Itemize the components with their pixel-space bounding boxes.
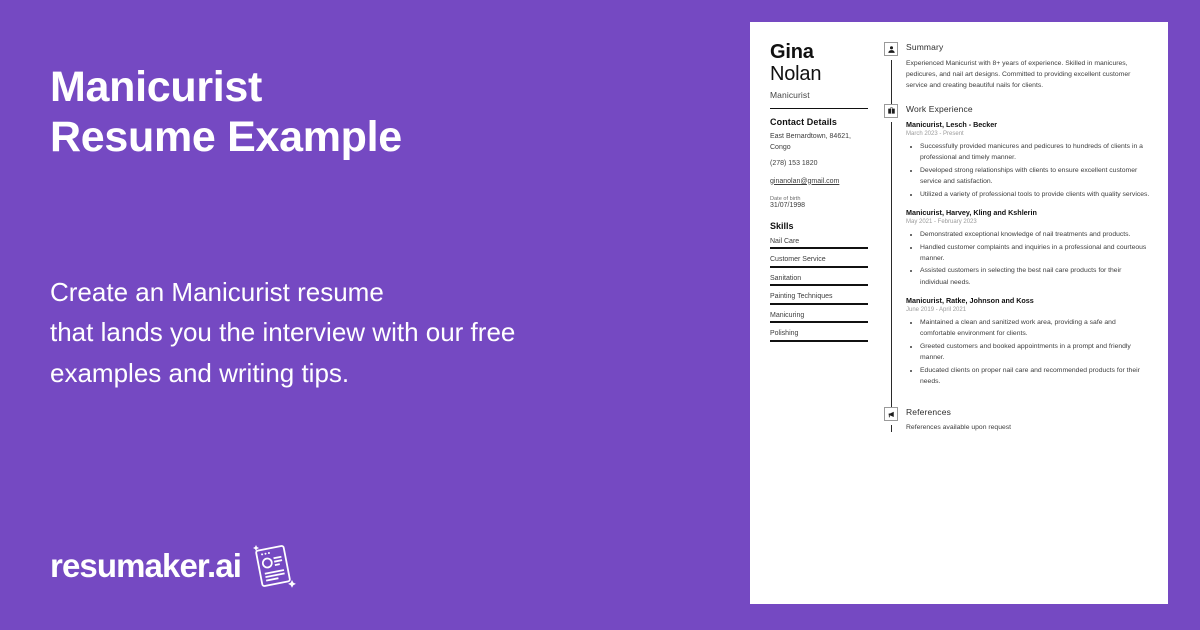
skill-label: Manicuring bbox=[770, 312, 868, 319]
job-bullet: Assisted customers in selecting the best… bbox=[920, 265, 1150, 287]
section-body: Work Experience Manicurist, Lesch - Beck… bbox=[902, 104, 1150, 408]
section-gutter bbox=[880, 104, 902, 408]
job-dates: May 2021 - February 2023 bbox=[906, 219, 1150, 225]
section-rail bbox=[891, 425, 892, 432]
divider bbox=[770, 108, 868, 109]
resume-document-icon bbox=[247, 540, 299, 592]
skill-item: Customer Service bbox=[770, 256, 868, 268]
summary-title: Summary bbox=[906, 42, 1150, 53]
skill-bar-track bbox=[770, 247, 868, 249]
skill-label: Customer Service bbox=[770, 256, 868, 263]
skill-bar-fill bbox=[770, 321, 868, 323]
section-work-experience: Work Experience Manicurist, Lesch - Beck… bbox=[880, 104, 1150, 408]
skill-label: Sanitation bbox=[770, 275, 868, 282]
promo-subtitle: Create an Manicurist resume that lands y… bbox=[50, 272, 610, 393]
job-entry: Manicurist, Ratke, Johnson and Koss June… bbox=[906, 296, 1150, 387]
job-bullet: Educated clients on proper nail care and… bbox=[920, 365, 1150, 387]
skill-item: Sanitation bbox=[770, 275, 868, 287]
skill-bar-track bbox=[770, 284, 868, 286]
job-title: Manicurist, Lesch - Becker bbox=[906, 120, 1150, 130]
skill-bar-track bbox=[770, 321, 868, 323]
page-title: Manicurist Resume Example bbox=[50, 62, 710, 163]
references-text: References available upon request bbox=[906, 423, 1150, 434]
work-experience-title: Work Experience bbox=[906, 104, 1150, 115]
briefcase-icon bbox=[884, 104, 898, 118]
summary-text: Experienced Manicurist with 8+ years of … bbox=[906, 58, 1150, 92]
job-bullet: Maintained a clean and sanitized work ar… bbox=[920, 317, 1150, 339]
skill-label: Painting Techniques bbox=[770, 293, 868, 300]
resume-right-column: Summary Experienced Manicurist with 8+ y… bbox=[874, 42, 1150, 594]
skill-item: Manicuring bbox=[770, 312, 868, 324]
skill-item: Painting Techniques bbox=[770, 293, 868, 305]
skill-bar-fill bbox=[770, 247, 868, 249]
job-bullet: Developed strong relationships with clie… bbox=[920, 165, 1150, 187]
skill-label: Polishing bbox=[770, 330, 868, 337]
skill-bar-track bbox=[770, 303, 868, 305]
skill-label: Nail Care bbox=[770, 238, 868, 245]
section-rail bbox=[891, 122, 892, 408]
job-bullet: Successfully provided manicures and pedi… bbox=[920, 141, 1150, 163]
person-icon bbox=[884, 42, 898, 56]
job-bullet-list: Demonstrated exceptional knowledge of na… bbox=[920, 229, 1150, 288]
skill-bar-fill bbox=[770, 266, 868, 268]
section-references: References References available upon req… bbox=[880, 407, 1150, 446]
resume-first-name: Gina bbox=[770, 42, 868, 63]
dob-value: 31/07/1998 bbox=[770, 202, 868, 209]
skill-bar-fill bbox=[770, 284, 868, 286]
job-bullet: Demonstrated exceptional knowledge of na… bbox=[920, 229, 1150, 240]
section-gutter bbox=[880, 407, 902, 446]
job-title: Manicurist, Ratke, Johnson and Koss bbox=[906, 296, 1150, 306]
section-gutter bbox=[880, 42, 902, 104]
skill-item: Polishing bbox=[770, 330, 868, 342]
section-summary: Summary Experienced Manicurist with 8+ y… bbox=[880, 42, 1150, 104]
megaphone-icon bbox=[884, 407, 898, 421]
contact-email[interactable]: ginanolan@gmail.com bbox=[770, 178, 839, 185]
resume-last-name: Nolan bbox=[770, 63, 868, 85]
skill-bar-fill bbox=[770, 303, 868, 305]
contact-address-line-2: Congo bbox=[770, 143, 868, 154]
skill-bar-track bbox=[770, 340, 868, 342]
job-dates: June 2019 - April 2021 bbox=[906, 307, 1150, 313]
contact-address-line-1: East Bernardtown, 84621, bbox=[770, 132, 868, 143]
resume-preview-card[interactable]: Gina Nolan Manicurist Contact Details Ea… bbox=[750, 22, 1168, 604]
promo-banner: Manicurist Resume Example Create an Mani… bbox=[0, 0, 1200, 630]
job-entry: Manicurist, Lesch - Becker March 2023 - … bbox=[906, 120, 1150, 200]
contact-details-heading: Contact Details bbox=[770, 117, 868, 127]
job-dates: March 2023 - Present bbox=[906, 131, 1150, 137]
resume-job-title: Manicurist bbox=[770, 90, 868, 100]
job-bullet-list: Maintained a clean and sanitized work ar… bbox=[920, 317, 1150, 387]
section-body: References References available upon req… bbox=[902, 407, 1150, 446]
job-bullet: Utilized a variety of professional tools… bbox=[920, 189, 1150, 200]
job-bullet: Greeted customers and booked appointment… bbox=[920, 341, 1150, 363]
section-body: Summary Experienced Manicurist with 8+ y… bbox=[902, 42, 1150, 104]
skills-heading: Skills bbox=[770, 221, 868, 231]
job-entry: Manicurist, Harvey, Kling and Kshlerin M… bbox=[906, 208, 1150, 288]
contact-phone: (278) 153 1820 bbox=[770, 159, 868, 170]
job-bullet-list: Successfully provided manicures and pedi… bbox=[920, 141, 1150, 200]
skill-bar-track bbox=[770, 266, 868, 268]
brand-logo-text: resumaker.ai bbox=[50, 547, 241, 585]
references-title: References bbox=[906, 407, 1150, 418]
skill-bar-fill bbox=[770, 340, 868, 342]
job-title: Manicurist, Harvey, Kling and Kshlerin bbox=[906, 208, 1150, 218]
section-rail bbox=[891, 60, 892, 104]
skill-item: Nail Care bbox=[770, 238, 868, 250]
job-bullet: Handled customer complaints and inquirie… bbox=[920, 242, 1150, 264]
resume-left-column: Gina Nolan Manicurist Contact Details Ea… bbox=[770, 42, 874, 594]
brand-logo[interactable]: resumaker.ai bbox=[50, 540, 299, 592]
